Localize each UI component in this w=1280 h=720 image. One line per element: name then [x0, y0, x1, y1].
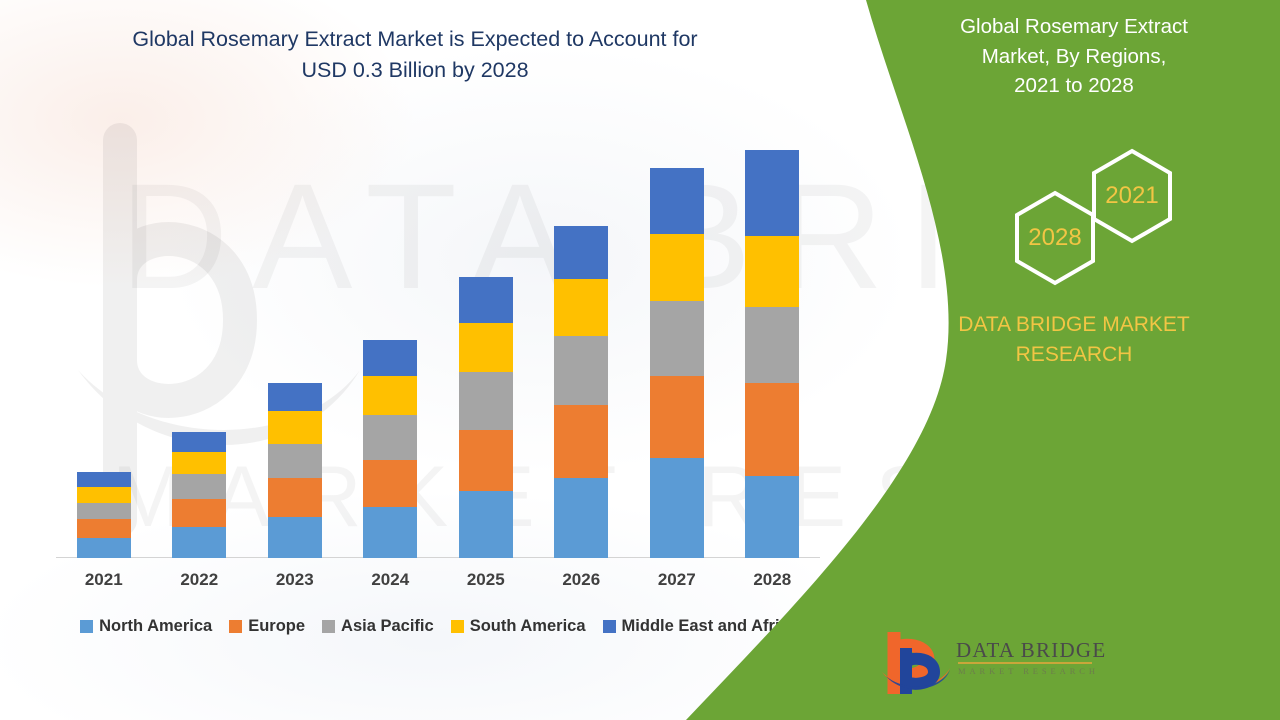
bar-segment — [77, 538, 131, 558]
x-axis-label-2024: 2024 — [345, 570, 435, 590]
x-axis-label-2027: 2027 — [632, 570, 722, 590]
chart-title-line-2: USD 0.3 Billion by 2028 — [301, 58, 528, 82]
bar-segment — [459, 277, 513, 324]
bar-group-2024 — [363, 340, 417, 558]
bar-segment — [554, 336, 608, 405]
x-axis-label-2021: 2021 — [59, 570, 149, 590]
bar-segment — [745, 150, 799, 236]
bar-segment — [172, 474, 226, 498]
bar-group-2025 — [459, 277, 513, 558]
legend-label: Middle East and Africa — [622, 617, 798, 636]
legend-label: North America — [99, 617, 212, 636]
bar-segment — [77, 503, 131, 519]
stacked-bar-chart-plot — [56, 150, 820, 558]
bar-segment — [268, 444, 322, 479]
bar-segment — [459, 323, 513, 372]
bar-segment — [77, 487, 131, 503]
legend-item[interactable]: Europe — [229, 617, 305, 636]
infographic-canvas: DATA BRIDGE MARKET RESEARCH Global Rosem… — [0, 0, 1280, 720]
panel-brand-line-1: DATA BRIDGE MARKET — [958, 313, 1189, 336]
hexagon-front-label: 2021 — [1105, 182, 1158, 210]
hexagon-back-label: 2028 — [1028, 224, 1081, 252]
legend-swatch-icon — [229, 620, 242, 633]
bar-segment — [363, 376, 417, 415]
bar-group-2028 — [745, 150, 799, 558]
bar-segment — [459, 372, 513, 429]
panel-title-line-3: 2021 to 2028 — [1014, 74, 1134, 97]
legend-label: Europe — [248, 617, 305, 636]
legend-swatch-icon — [603, 620, 616, 633]
chart-title-line-1: Global Rosemary Extract Market is Expect… — [132, 27, 697, 51]
legend-label: South America — [470, 617, 586, 636]
bar-segment — [745, 476, 799, 558]
chart-legend: North AmericaEuropeAsia PacificSouth Ame… — [46, 617, 832, 636]
bar-segment — [745, 236, 799, 307]
legend-swatch-icon — [80, 620, 93, 633]
bar-segment — [268, 411, 322, 444]
panel-title-line-2: Market, By Regions, — [982, 45, 1167, 68]
logo-wordmark: DATA BRIDGE — [956, 638, 1106, 663]
legend-item[interactable]: South America — [451, 617, 586, 636]
x-axis-label-2028: 2028 — [727, 570, 817, 590]
legend-swatch-icon — [451, 620, 464, 633]
bar-segment — [172, 432, 226, 452]
panel-brand-text: DATA BRIDGE MARKET RESEARCH — [900, 310, 1248, 370]
bar-segment — [554, 279, 608, 336]
bar-segment — [650, 234, 704, 301]
x-axis-label-2022: 2022 — [154, 570, 244, 590]
dbmr-logo: DATA BRIDGE MARKET RESEARCH — [880, 632, 1110, 700]
bar-segment — [363, 460, 417, 507]
bar-segment — [745, 307, 799, 382]
bar-segment — [77, 472, 131, 486]
panel-title: Global Rosemary Extract Market, By Regio… — [900, 12, 1248, 101]
hexagon-badge-back: 2028 — [1013, 190, 1097, 286]
bar-group-2021 — [77, 472, 131, 558]
x-axis-line — [56, 557, 820, 558]
bar-segment — [650, 168, 704, 233]
x-axis-tick-labels: 20212022202320242025202620272028 — [56, 570, 820, 600]
bar-segment — [172, 452, 226, 474]
bar-segment — [459, 491, 513, 558]
bar-segment — [363, 415, 417, 460]
legend-swatch-icon — [322, 620, 335, 633]
logo-subtitle: MARKET RESEARCH — [958, 666, 1099, 676]
bar-group-2022 — [172, 432, 226, 558]
bar-segment — [77, 519, 131, 537]
x-axis-label-2023: 2023 — [250, 570, 340, 590]
bar-segment — [363, 507, 417, 558]
page-title: Global Rosemary Extract Market is Expect… — [40, 24, 790, 85]
bar-segment — [459, 430, 513, 491]
bar-segment — [554, 478, 608, 558]
x-axis-label-2025: 2025 — [441, 570, 531, 590]
bar-segment — [745, 383, 799, 477]
bar-segment — [172, 527, 226, 558]
bar-segment — [172, 499, 226, 528]
bar-segment — [650, 301, 704, 376]
bar-segment — [554, 226, 608, 279]
legend-item[interactable]: North America — [80, 617, 212, 636]
bar-segment — [268, 478, 322, 517]
panel-content: Global Rosemary Extract Market, By Regio… — [900, 0, 1280, 720]
bar-group-2023 — [268, 383, 322, 558]
bar-segment — [650, 376, 704, 458]
panel-title-line-1: Global Rosemary Extract — [960, 15, 1188, 38]
bar-segment — [363, 340, 417, 377]
bar-segment — [268, 517, 322, 558]
bar-segment — [268, 383, 322, 412]
legend-label: Asia Pacific — [341, 617, 434, 636]
bar-group-2027 — [650, 168, 704, 558]
logo-divider — [958, 662, 1092, 664]
legend-item[interactable]: Middle East and Africa — [603, 617, 798, 636]
legend-item[interactable]: Asia Pacific — [322, 617, 434, 636]
panel-brand-line-2: RESEARCH — [1016, 343, 1133, 366]
dbmr-logo-mark-icon — [880, 632, 952, 694]
bar-segment — [650, 458, 704, 558]
bar-group-2026 — [554, 226, 608, 558]
bar-segment — [554, 405, 608, 478]
hexagon-badge-front: 2021 — [1090, 148, 1174, 244]
x-axis-label-2026: 2026 — [536, 570, 626, 590]
